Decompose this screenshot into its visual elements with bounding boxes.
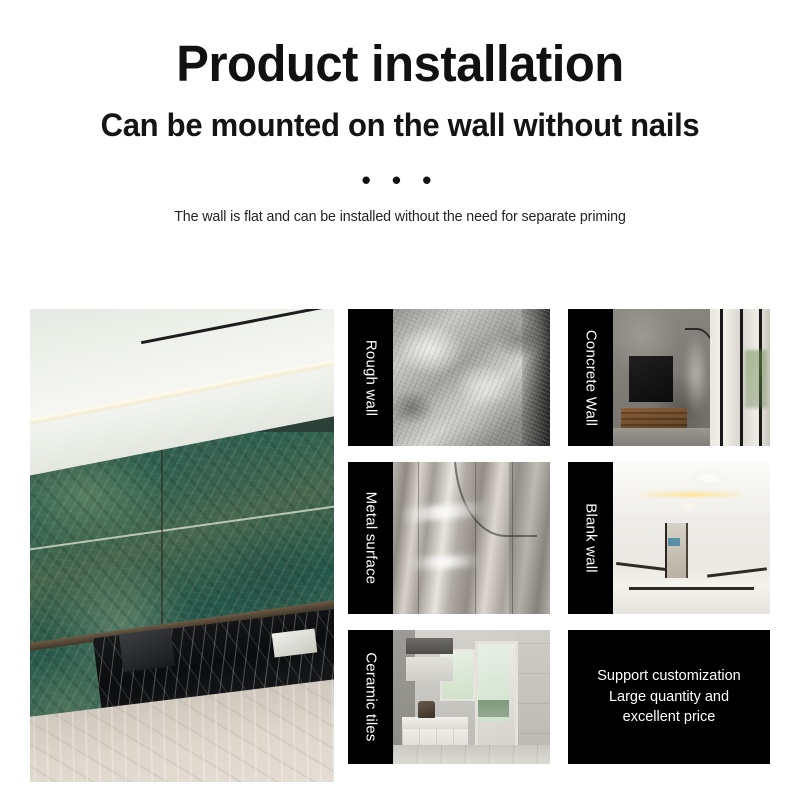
hero-counter-decor: [272, 628, 317, 657]
photo-metal-surface: [393, 462, 550, 614]
photo-kettle: [418, 701, 435, 718]
cell-label-panel: Blank wall: [568, 462, 613, 614]
grid-cell-promo[interactable]: Support customization Large quantity and…: [568, 630, 770, 764]
photo-mullion: [720, 309, 723, 446]
photo-mullion: [740, 309, 743, 446]
photo-doorway: [665, 523, 688, 578]
page-header: Product installation Can be mounted on t…: [0, 0, 800, 225]
photo-floor: [613, 428, 723, 446]
cell-label-panel: Concrete Wall: [568, 309, 613, 446]
photo-ceramic-tiles: [393, 630, 550, 764]
grid-cell-metal-surface[interactable]: Metal surface: [348, 462, 550, 614]
grid-cell-blank-wall[interactable]: Blank wall: [568, 462, 770, 614]
page-description: The wall is flat and can be installed wi…: [8, 193, 792, 225]
photo-door-sign: [668, 538, 681, 546]
photo-floor-tiles: [393, 745, 550, 764]
cell-label-panel: Rough wall: [348, 309, 393, 446]
grid-cell-ceramic-tiles[interactable]: Ceramic tiles: [348, 630, 550, 764]
cell-label-text: Concrete Wall: [582, 329, 599, 425]
photo-specular-highlight: [408, 554, 481, 570]
surface-type-grid: Rough wall Concrete Wall Metal surface: [348, 309, 770, 764]
photo-rough-wall: [393, 309, 550, 446]
hero-image-marble-wall: [30, 309, 334, 782]
photo-television: [629, 356, 673, 403]
cell-label-text: Rough wall: [362, 339, 379, 415]
photo-floor-inlay: [629, 587, 755, 590]
promo-text: Support customization Large quantity and…: [597, 666, 740, 728]
photo-chandelier: [688, 468, 729, 488]
grid-cell-rough-wall[interactable]: Rough wall: [348, 309, 550, 446]
photo-countertop: [402, 717, 468, 729]
divider-dots: • • •: [0, 141, 800, 193]
photo-panel-seam: [475, 462, 476, 614]
cell-label-panel: Ceramic tiles: [348, 630, 393, 764]
grid-cell-concrete-wall[interactable]: Concrete Wall: [568, 309, 770, 446]
photo-concrete-wall: [613, 309, 770, 446]
cell-label-text: Blank wall: [582, 503, 599, 573]
page-subtitle: Can be mounted on the wall without nails: [12, 89, 788, 141]
cell-label-text: Ceramic tiles: [362, 652, 379, 741]
photo-panel-seam: [512, 462, 513, 614]
photo-cove-light: [641, 492, 741, 497]
photo-curved-corner: [454, 462, 538, 537]
photo-pendant-light: [676, 498, 701, 513]
photo-foliage: [745, 350, 767, 408]
hero-counter-object: [119, 628, 175, 672]
photo-blank-wall: [613, 462, 770, 614]
page-title: Product installation: [16, 0, 784, 89]
photo-edge-shadow: [522, 309, 550, 446]
photo-upper-cabinet: [406, 657, 453, 681]
photo-range-hood: [406, 638, 453, 654]
cell-label-text: Metal surface: [362, 492, 379, 585]
photo-panel-seam: [418, 462, 419, 614]
cell-label-panel: Metal surface: [348, 462, 393, 614]
photo-balcony-rail: [478, 700, 509, 717]
photo-tiled-wall: [515, 630, 550, 764]
